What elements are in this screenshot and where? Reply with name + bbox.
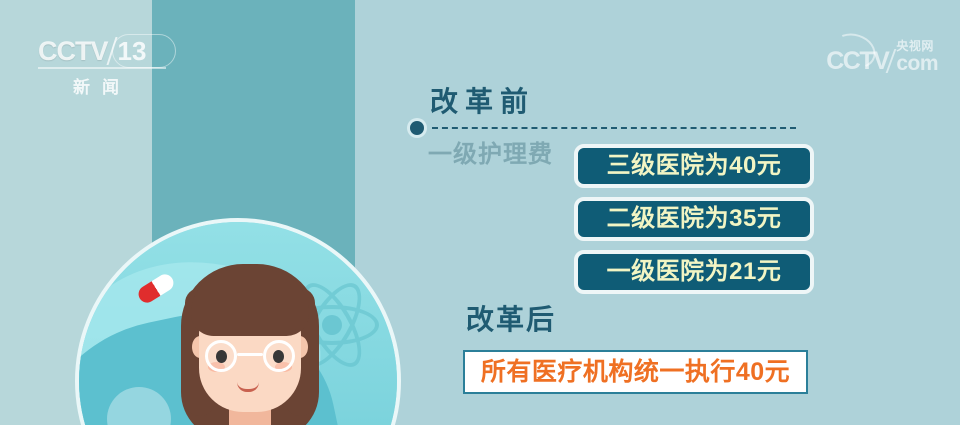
before-reform-heading: 改革前 [430,88,535,116]
divider-dashed-line [432,127,796,129]
infographic-content: 改革前 一级护理费 三级医院为40元 二级医院为35元 一级医院为21元 改革后… [0,0,960,425]
before-reform-divider [410,120,796,136]
after-reform-heading: 改革后 [466,306,556,334]
before-reform-item-1-text: 三级医院为40元 [607,154,782,178]
before-reform-item-3: 一级医院为21元 [574,250,814,294]
nursing-fee-category-label: 一级护理费 [428,143,553,167]
before-reform-item-2-text: 二级医院为35元 [607,207,782,231]
divider-dot [410,121,424,135]
after-reform-statement-text: 所有医疗机构统一执行40元 [481,360,790,385]
after-reform-statement-box: 所有医疗机构统一执行40元 [463,350,808,394]
before-reform-item-1: 三级医院为40元 [574,144,814,188]
before-reform-item-2: 二级医院为35元 [574,197,814,241]
before-reform-item-3-text: 一级医院为21元 [607,260,782,284]
